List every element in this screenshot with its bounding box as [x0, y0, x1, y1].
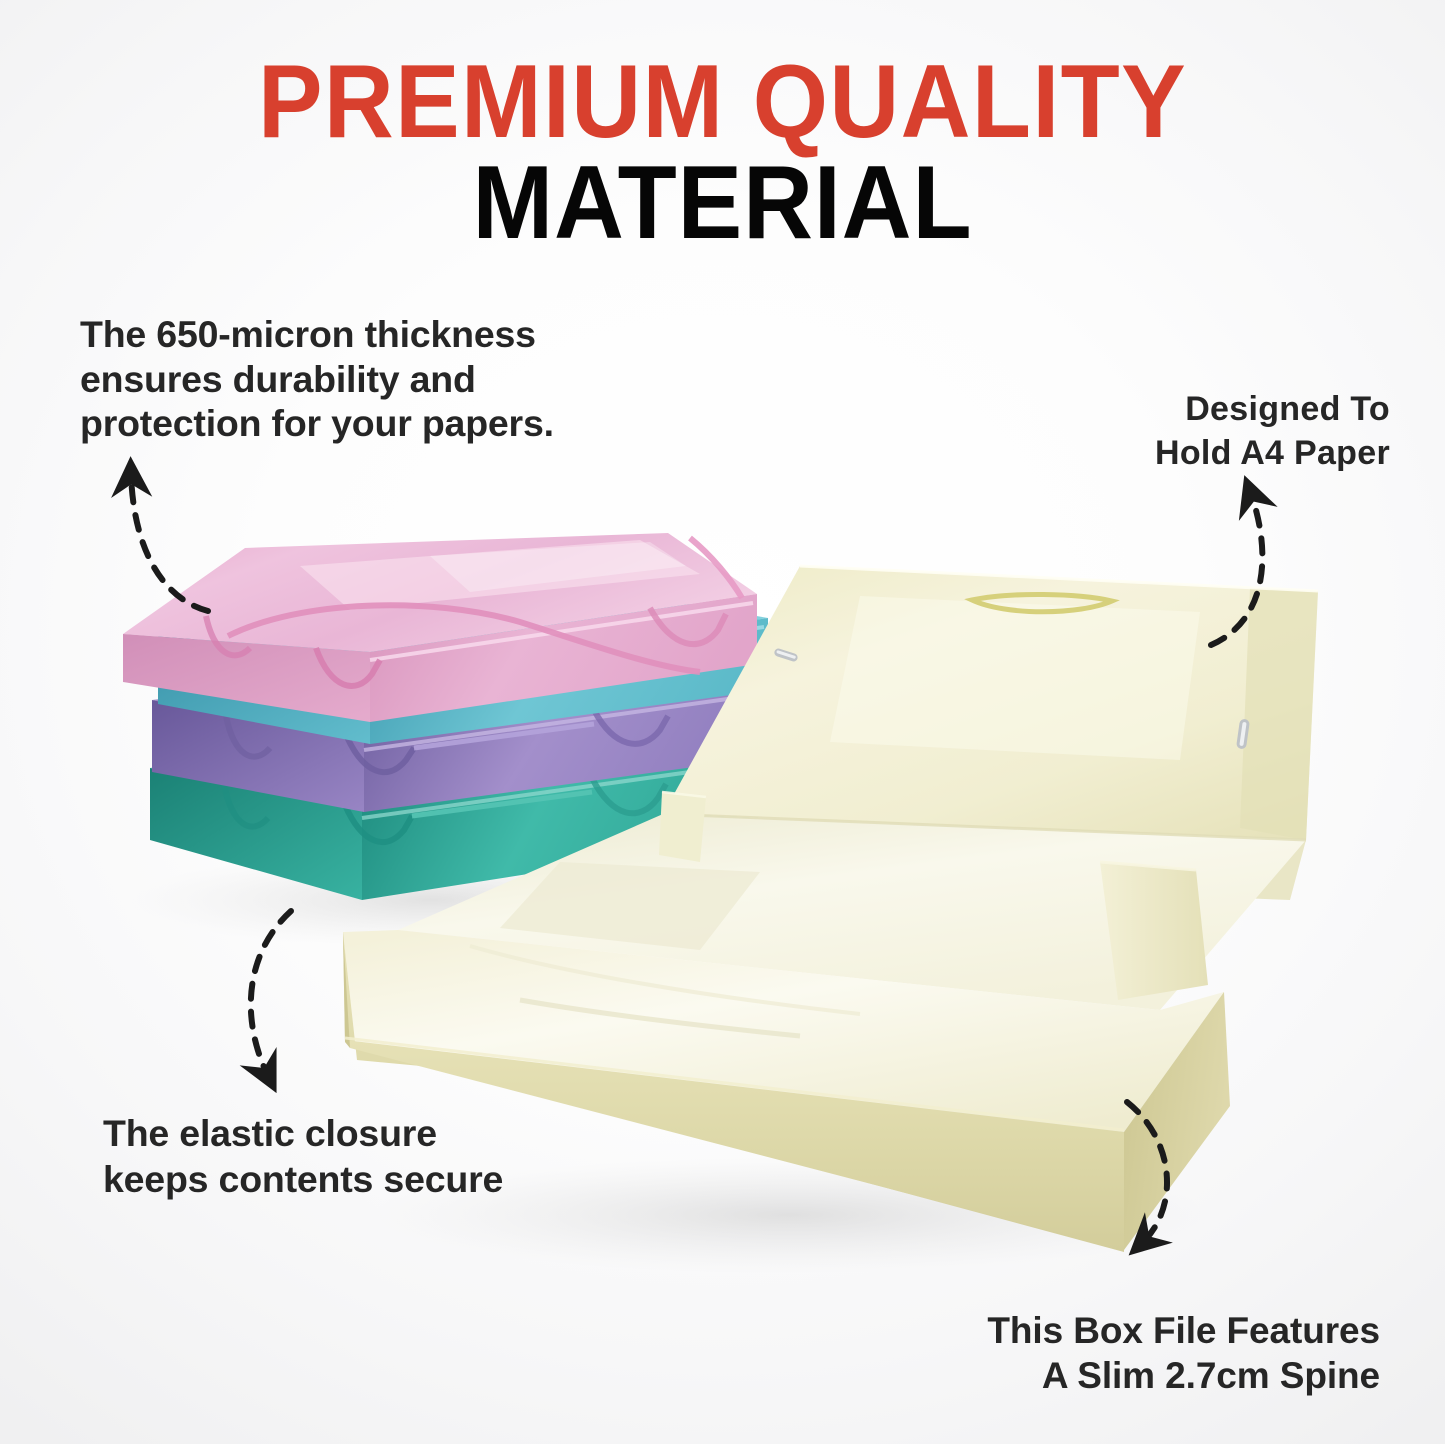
product-infographic: PREMIUM QUALITY MATERIAL The 650-micron … [0, 0, 1445, 1444]
title-line-1: PREMIUM QUALITY [51, 52, 1395, 154]
title-line-2: MATERIAL [51, 150, 1395, 256]
page-title: PREMIUM QUALITY MATERIAL [0, 52, 1445, 256]
callout-thickness-label: The 650-micron thickness ensures durabil… [80, 312, 554, 446]
interior-retaining-flap [1100, 862, 1208, 1000]
callout-elastic-label: The elastic closure keeps contents secur… [103, 1110, 503, 1202]
callout-a4-label: Designed To Hold A4 Paper [1155, 388, 1390, 475]
callout-spine-label: This Box File Features A Slim 2.7cm Spin… [987, 1308, 1380, 1398]
spine-tab [659, 792, 706, 862]
